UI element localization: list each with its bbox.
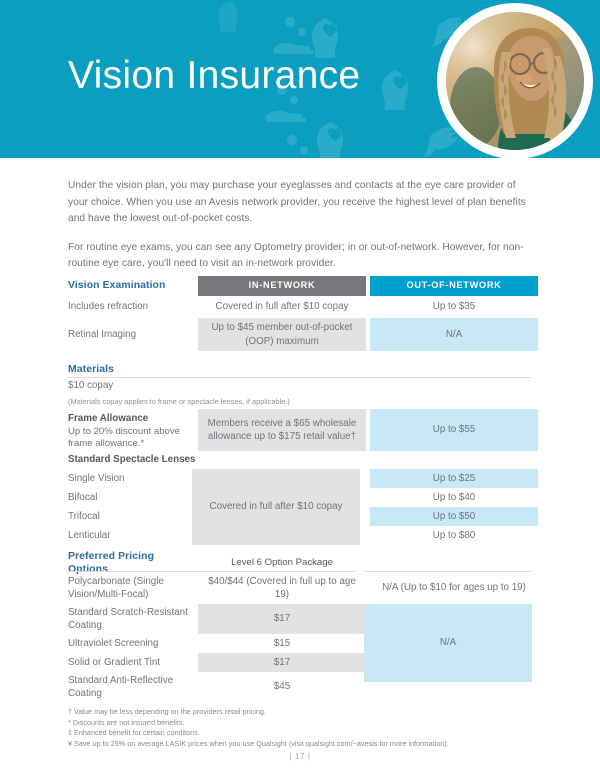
materials-copay: $10 copay [68,378,538,395]
table-row: Standard Scratch-Resistant Coating $17 [68,604,532,634]
level-option-package-header: Level 6 Option Package [198,555,366,571]
cell-in-network: $45 [198,672,366,702]
cell-in-network: Covered in full after $10 copay [198,296,366,318]
cell-out-of-network-spacer [370,604,538,634]
row-label-retinal-imaging: Retinal Imaging [68,318,198,351]
preferred-pricing-out-header-spacer [370,555,538,571]
table-row: Trifocal Up to $50 [68,507,532,526]
cell-out-of-network: N/A [370,318,538,351]
avatar-photo-illustration [446,12,584,150]
table-row: Single Vision Up to $25 [68,469,532,488]
benefits-table: Vision Examination IN-NETWORK OUT-OF-NET… [68,276,532,702]
intro-paragraph-1: Under the vision plan, you may purchase … [68,178,532,228]
cell-out-of-network: Up to $25 [370,469,538,488]
intro-paragraph-2: For routine eye exams, you can see any O… [68,240,532,273]
table-row: Retinal Imaging Up to $45 member out-of-… [68,318,532,351]
cell-out-of-network: Up to $55 [370,409,538,451]
bird-icon [424,128,458,157]
footnotes: † Value may be less depending on the pro… [68,707,538,749]
row-label-lenticular: Lenticular [68,526,198,545]
table-row: Includes refraction Covered in full afte… [68,296,532,318]
cell-out-of-network: Up to $80 [370,526,538,545]
intro-copy: Under the vision plan, you may purchase … [68,178,532,285]
materials-heading: Materials [68,362,538,377]
spectacle-lenses-heading: Standard Spectacle Lenses [68,451,538,469]
row-label-includes-refraction: Includes refraction [68,296,198,318]
cell-out-of-network: Up to $35 [370,296,538,318]
spectacle-lenses-heading-row: Standard Spectacle Lenses [68,451,532,469]
page-title: Vision Insurance [68,56,360,95]
materials-copay-note: (Materials copay applies to frame or spe… [68,395,538,409]
cell-out-of-network: Up to $50 [370,507,538,526]
footnote-yen: ¥ Save up to 25% on average LASIK prices… [68,739,538,750]
frame-allowance-subtext: Up to 20% discount above frame allowance… [68,426,192,451]
head-heart-icon [382,70,408,110]
footnote-double-dagger: ‡ Enhanced benefit for certain conditons… [68,728,538,739]
head-heart-icon [218,2,238,32]
table-row: Standard Anti-Reflective Coating $45 [68,672,532,702]
frame-allowance-row: Frame Allowance Up to 20% discount above… [68,409,532,451]
cell-out-of-network-spacer [370,634,538,653]
row-label-bifocal: Bifocal [68,488,198,507]
footnote-asterisk: * Discounts are not insured benefits. [68,718,538,729]
cell-in-network: $15 [198,634,366,653]
cell-in-network: Members receive a $65 wholesale allowanc… [198,409,366,451]
row-label-scratch-resistant: Standard Scratch-Resistant Coating [68,604,198,634]
head-heart-icon [317,122,343,158]
cell-out-of-network-spacer [370,672,538,702]
column-header-out-of-network: OUT-OF-NETWORK [370,276,538,296]
column-header-in-network: IN-NETWORK [198,276,366,296]
row-label-single-vision: Single Vision [68,469,198,488]
hand-coins-icon [287,135,308,154]
cell-in-network-spacer [198,507,366,526]
cell-in-network-spacer [198,526,366,545]
materials-copay-note-row: (Materials copay applies to frame or spe… [68,395,532,409]
table-row: Lenticular Up to $80 [68,526,532,545]
section-materials-header: Materials [68,362,532,377]
table-row: Bifocal Up to $40 [68,488,532,507]
frame-allowance-title: Frame Allowance [68,412,192,426]
section-preferred-pricing-header: Preferred Pricing Options Level 6 Option… [68,555,532,571]
row-label-solid-gradient-tint: Solid or Gradient Tint [68,653,198,672]
row-label-anti-reflective: Standard Anti-Reflective Coating [68,672,198,702]
table-row: Polycarbonate (Single Vision/Multi-Focal… [68,572,532,604]
cell-out-of-network: N/A (Up to $10 for ages up to 19) [370,572,538,604]
row-label-trifocal: Trifocal [68,507,198,526]
head-heart-icon [312,18,338,58]
cell-in-network: $40/$44 (Covered in full up to age 19) [198,572,366,604]
cell-in-network: $17 [198,653,366,672]
materials-copay-row: $10 copay [68,378,532,395]
row-label-polycarbonate: Polycarbonate (Single Vision/Multi-Focal… [68,572,198,604]
footnote-dagger: † Value may be less depending on the pro… [68,707,538,718]
row-label-uv-screening: Ultraviolet Screening [68,634,198,653]
cell-out-of-network: Up to $40 [370,488,538,507]
row-label-frame-allowance: Frame Allowance Up to 20% discount above… [68,409,198,451]
cell-in-network: Up to $45 member out-of-pocket (OOP) max… [198,318,366,351]
cell-in-network-spacer [198,488,366,507]
cell-in-network-spacer [198,469,366,488]
table-row: Solid or Gradient Tint $17 [68,653,532,672]
cell-in-network: $17 [198,604,366,634]
vision-examination-heading: Vision Examination [68,276,198,296]
avatar [446,12,584,150]
preferred-pricing-heading: Preferred Pricing Options [68,555,198,571]
cell-out-of-network-spacer [370,653,538,672]
hand-coins-icon [273,17,314,54]
page-number: | 17 | [0,752,600,761]
table-header-row: Vision Examination IN-NETWORK OUT-OF-NET… [68,276,532,296]
table-row: Ultraviolet Screening $15 [68,634,532,653]
